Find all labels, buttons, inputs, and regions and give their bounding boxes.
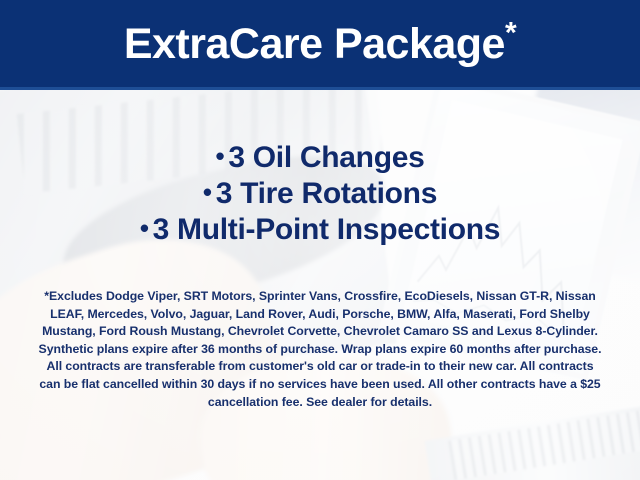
- page-title-text: ExtraCare Package: [124, 20, 505, 68]
- bullet-icon: •: [140, 213, 149, 243]
- title-asterisk: *: [505, 16, 516, 49]
- bullet-icon: •: [216, 141, 225, 171]
- extracare-package-ad: ExtraCare Package* •3 Oil Changes •3 Tir…: [0, 0, 640, 480]
- list-item-label: 3 Multi-Point Inspections: [153, 213, 501, 246]
- bullet-icon: •: [203, 177, 212, 207]
- list-item: •3 Multi-Point Inspections: [0, 212, 640, 248]
- header-banner: ExtraCare Package*: [0, 0, 640, 90]
- page-title: ExtraCare Package*: [124, 23, 516, 66]
- list-item-label: 3 Tire Rotations: [216, 177, 437, 210]
- list-item-label: 3 Oil Changes: [228, 141, 424, 174]
- list-item: •3 Oil Changes: [0, 140, 640, 176]
- disclaimer-text: *Excludes Dodge Viper, SRT Motors, Sprin…: [38, 288, 602, 411]
- benefits-list: •3 Oil Changes •3 Tire Rotations •3 Mult…: [0, 140, 640, 248]
- list-item: •3 Tire Rotations: [0, 176, 640, 212]
